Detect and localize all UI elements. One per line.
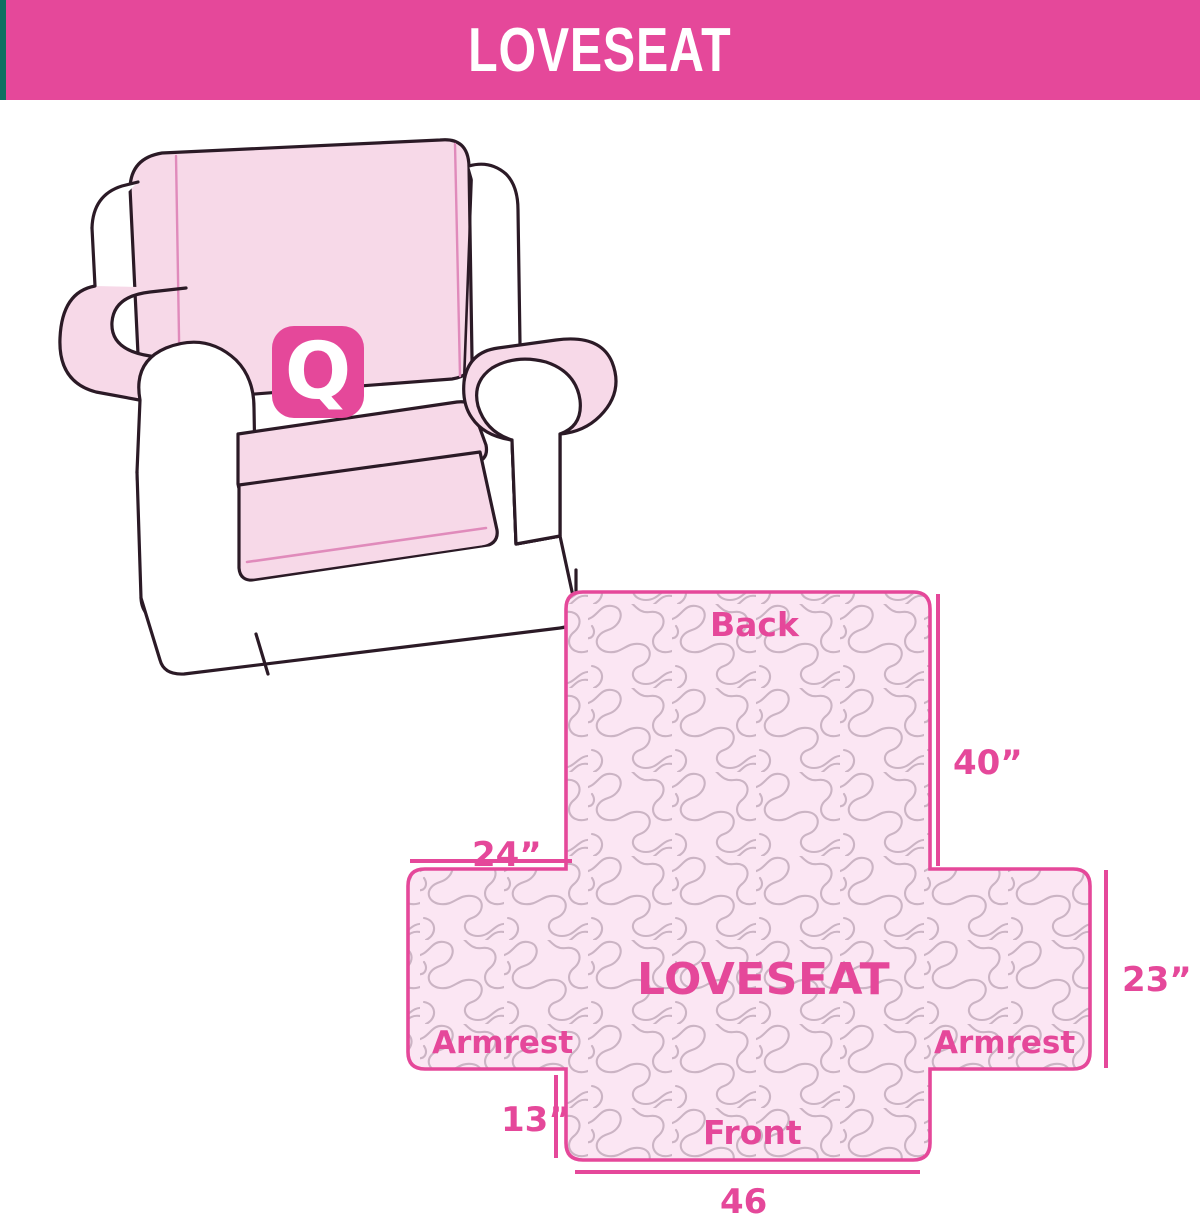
diagram-canvas: Q (0, 100, 1200, 1200)
cover-outline-shape (408, 592, 1090, 1160)
dimension-label-back-height: 40” (953, 743, 1023, 783)
panel-label-front: Front (703, 1113, 802, 1152)
panel-label-back: Back (710, 605, 799, 644)
panel-label-armrest-right: Armrest (934, 1025, 1075, 1061)
dimension-label-armrest-width: 24” (472, 835, 542, 875)
dimension-label-front-width: 46 (720, 1182, 767, 1222)
header-banner: LOVESEAT (0, 0, 1200, 100)
dimension-label-armrest-height: 23” (1122, 960, 1192, 1000)
dimension-label-front-height: 13” (501, 1100, 571, 1140)
header-edge-strip (0, 0, 6, 100)
panel-label-armrest-left: Armrest (432, 1025, 573, 1061)
page-title: LOVESEAT (468, 15, 731, 86)
panel-label-center: LOVESEAT (637, 954, 890, 1005)
